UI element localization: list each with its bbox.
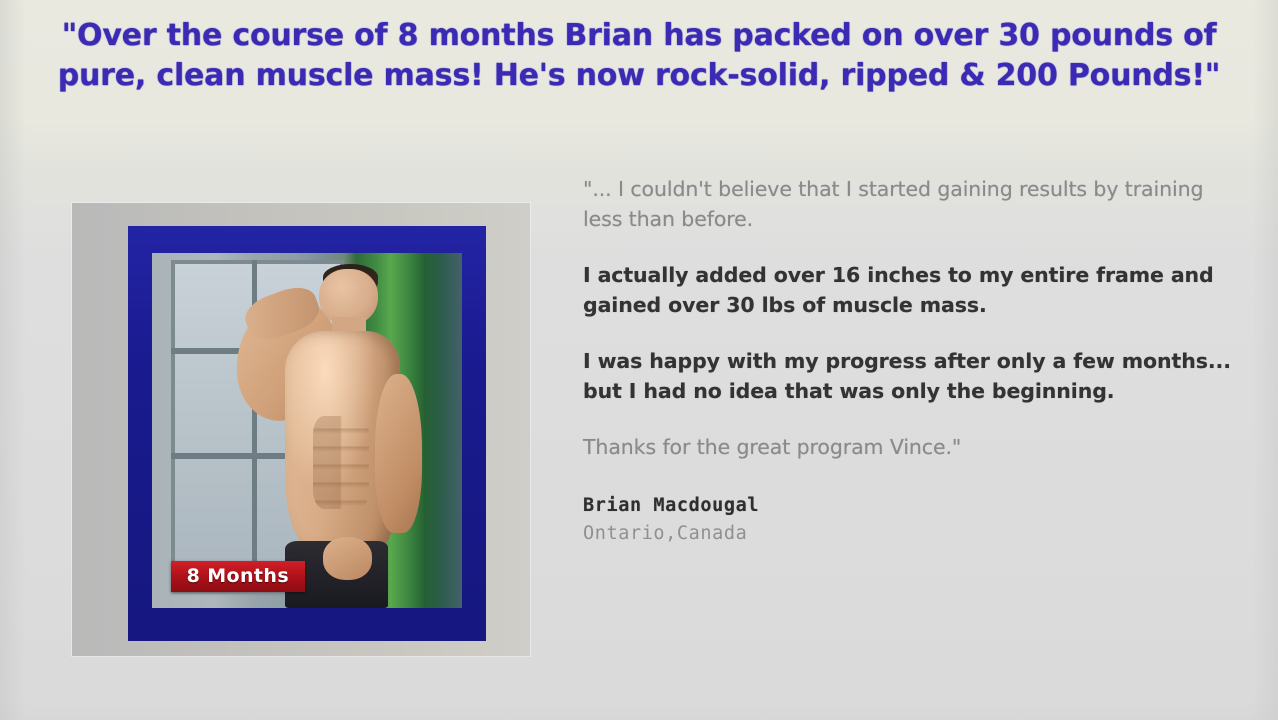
testimonial-paragraph-2: I actually added over 16 inches to my en…: [583, 260, 1238, 320]
page-headline: "Over the course of 8 months Brian has p…: [28, 16, 1250, 96]
signature-block: Brian Macdougal Ontario,Canada: [583, 492, 1238, 548]
signature-name: Brian Macdougal: [583, 492, 1238, 520]
person-figure: [152, 253, 462, 608]
duration-badge: 8 Months: [171, 561, 305, 592]
testimonial-text-block: "... I couldn't believe that I started g…: [583, 174, 1238, 548]
testimonial-paragraph-1: "... I couldn't believe that I started g…: [583, 174, 1238, 234]
testimonial-paragraph-4: Thanks for the great program Vince.": [583, 432, 1238, 462]
transformation-photo: 8 Months: [152, 253, 462, 608]
photo-frame: 8 Months: [128, 226, 486, 641]
testimonial-paragraph-3: I was happy with my progress after only …: [583, 346, 1238, 406]
testimonial-page: "Over the course of 8 months Brian has p…: [0, 0, 1278, 720]
photo-panel: 8 Months: [72, 203, 530, 656]
signature-location: Ontario,Canada: [583, 520, 1238, 548]
